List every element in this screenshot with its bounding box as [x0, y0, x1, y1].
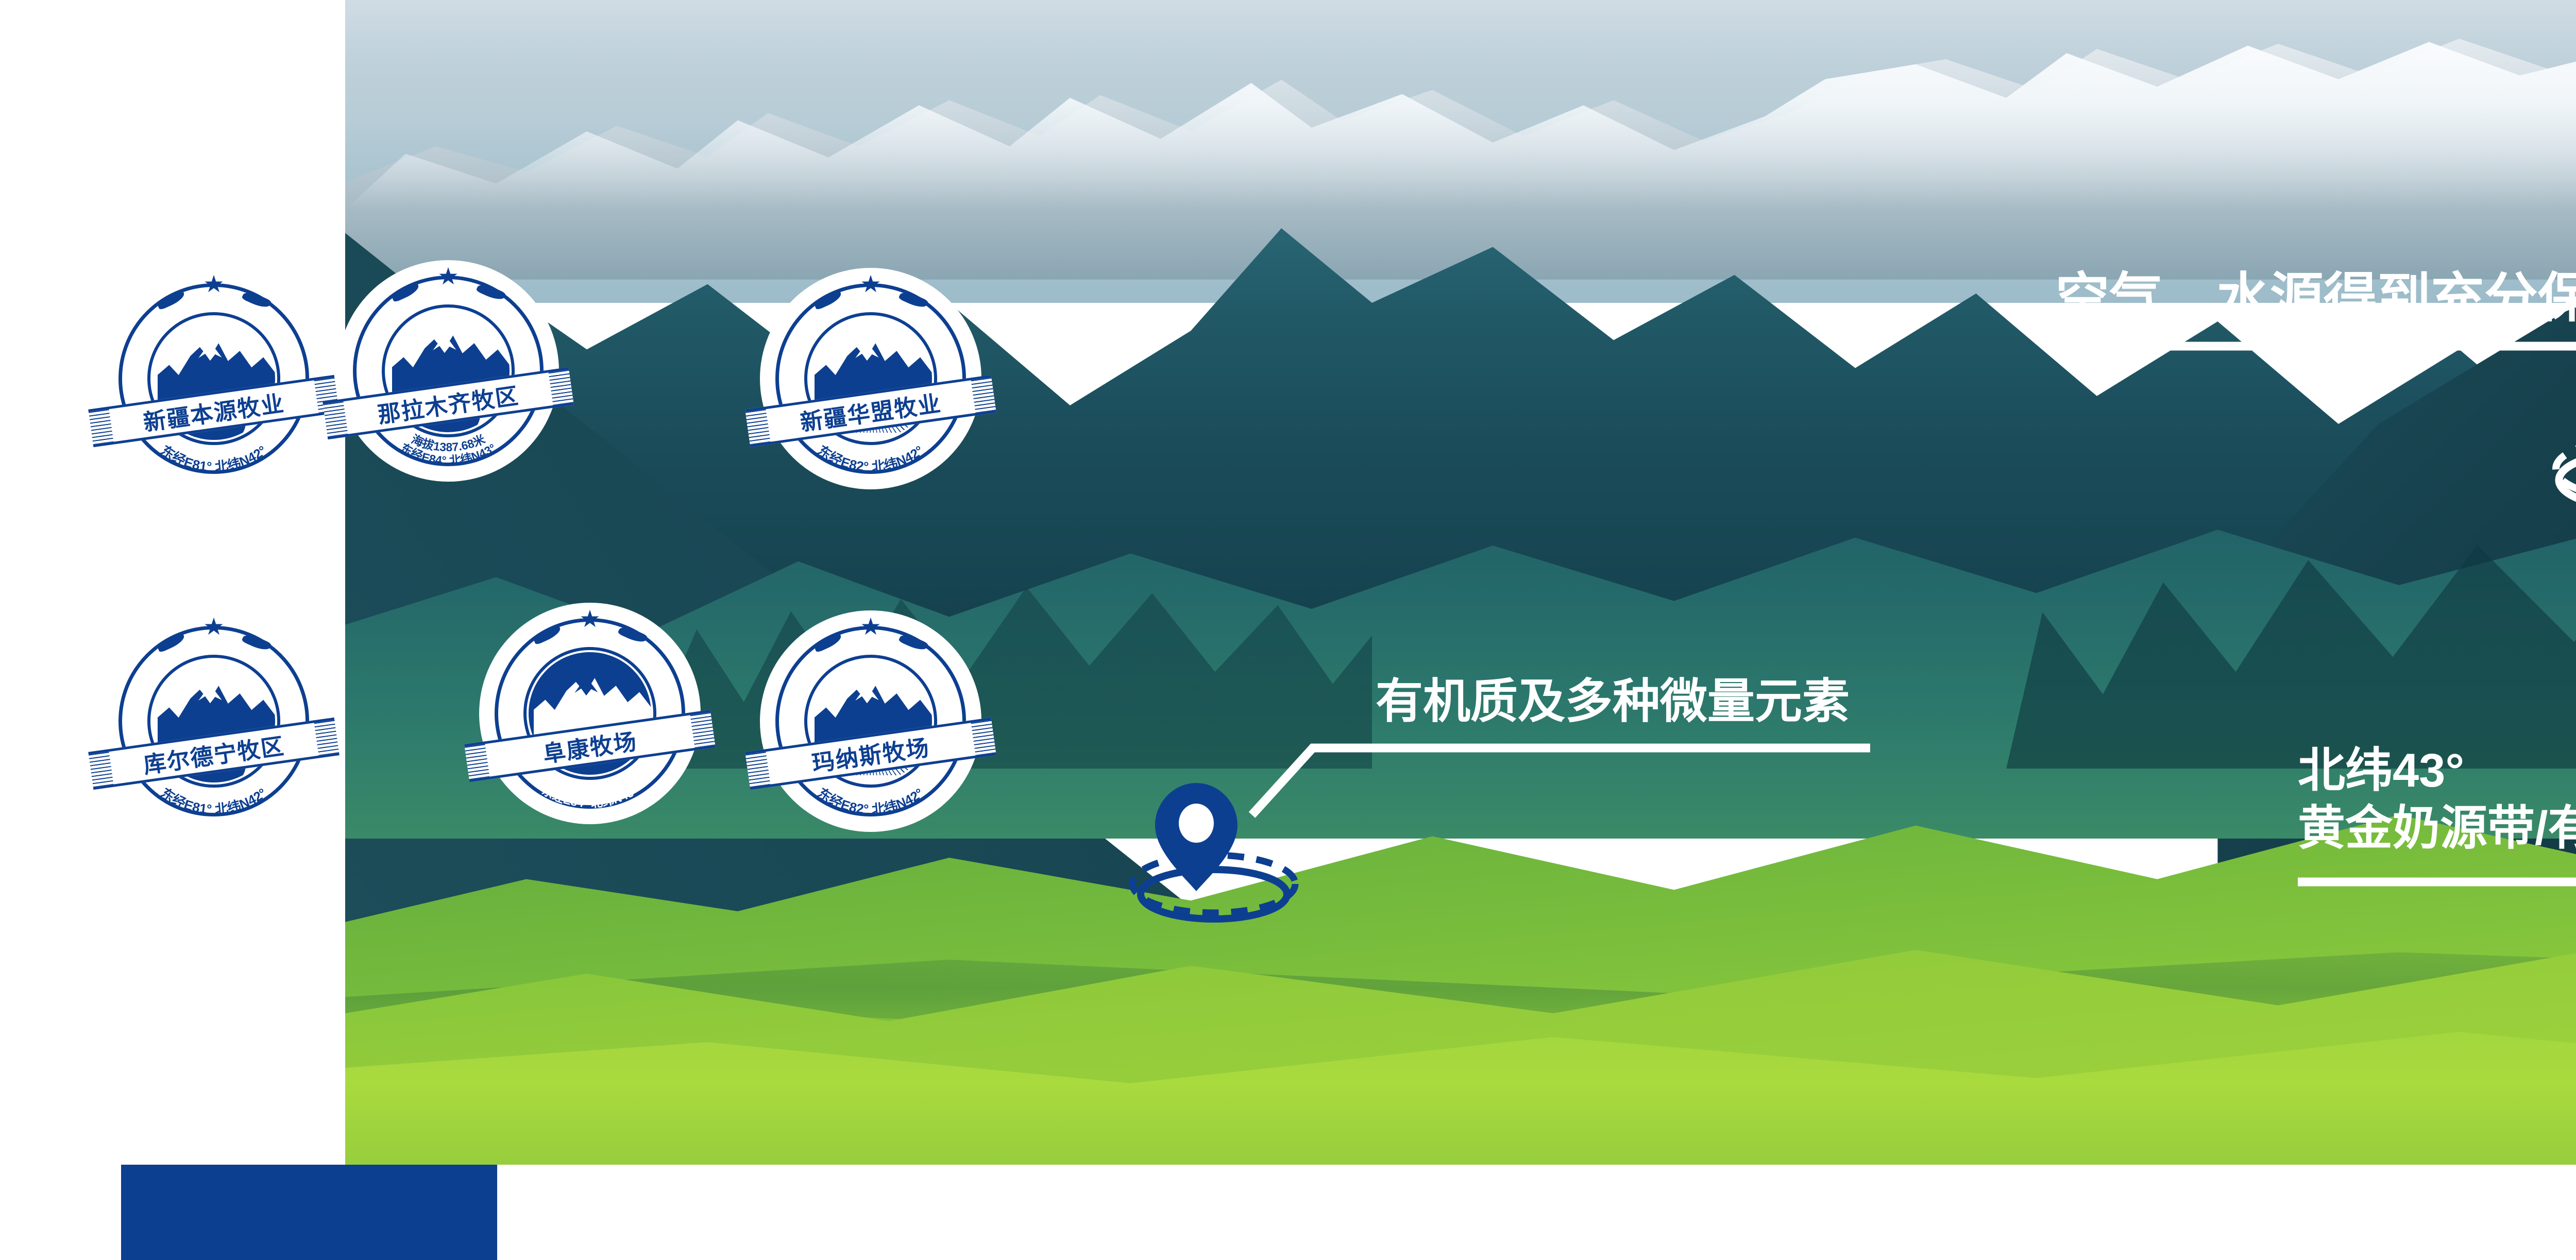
badge-seal-4[interactable]: ★ 库尔德宁牧区 东经E81° 北纬N42°	[103, 610, 325, 832]
ribbon-fold-left	[89, 752, 114, 787]
ribbon-fold-left	[745, 752, 771, 787]
callout-line-1: 北纬43°	[2298, 742, 2576, 799]
star-icon: ★	[579, 607, 600, 631]
callout-line-1: 空气、水源得到充分保护	[2056, 268, 2576, 329]
star-icon: ★	[860, 272, 881, 296]
badge-seal-3[interactable]: ★ 新疆华盟牧业 东经E82° 北纬N42°	[760, 268, 981, 489]
ribbon-fold-left	[465, 744, 490, 779]
landscape-photo	[345, 0, 2576, 1165]
ribbon-fold-left	[323, 401, 348, 437]
star-icon: ★	[203, 272, 224, 296]
badge-seal-2[interactable]: ★ 那拉木齐牧区 海拔1387.68米 东经E84° 北纬N43°	[337, 260, 559, 482]
callout-line-1: 有机质及多种微量元素	[1376, 675, 1850, 729]
map-pin-blue-1[interactable]	[1123, 768, 1293, 938]
star-icon: ★	[437, 264, 459, 288]
badge-seal-1[interactable]: ★ 新疆本源牧业 东经E81° 北纬N42°	[103, 268, 325, 489]
badge-seal-6[interactable]: ★ 玛纳斯牧场 东经E82° 北纬N42°	[760, 610, 981, 832]
callout-air-water-label: 空气、水源得到充分保护	[2056, 268, 2576, 329]
callout-air-water-leader	[2056, 335, 2576, 469]
badge-seal-5[interactable]: ★ 阜康牧场 海拔1387.68米 东经E84° 北纬N43°	[479, 603, 701, 824]
callout-line-2: 黄金奶源带/有机牧场	[2298, 799, 2576, 857]
banner-stage: ★ 新疆本源牧业 东经E81° 北纬N42° ★ 那拉木	[0, 0, 2576, 1260]
accent-block	[121, 1165, 497, 1260]
callout-organic-label: 有机质及多种微量元素	[1376, 675, 1850, 729]
star-icon: ★	[860, 615, 881, 638]
callout-organic-leader	[1252, 737, 1870, 871]
callout-milkbelt-label: 北纬43° 黄金奶源带/有机牧场	[2298, 742, 2576, 857]
callout-milkbelt-leader	[2298, 871, 2576, 1004]
ribbon-fold-left	[745, 409, 771, 445]
ribbon-fold-left	[89, 409, 114, 445]
star-icon: ★	[203, 615, 224, 638]
map-pin-white-1[interactable]	[2553, 350, 2576, 520]
